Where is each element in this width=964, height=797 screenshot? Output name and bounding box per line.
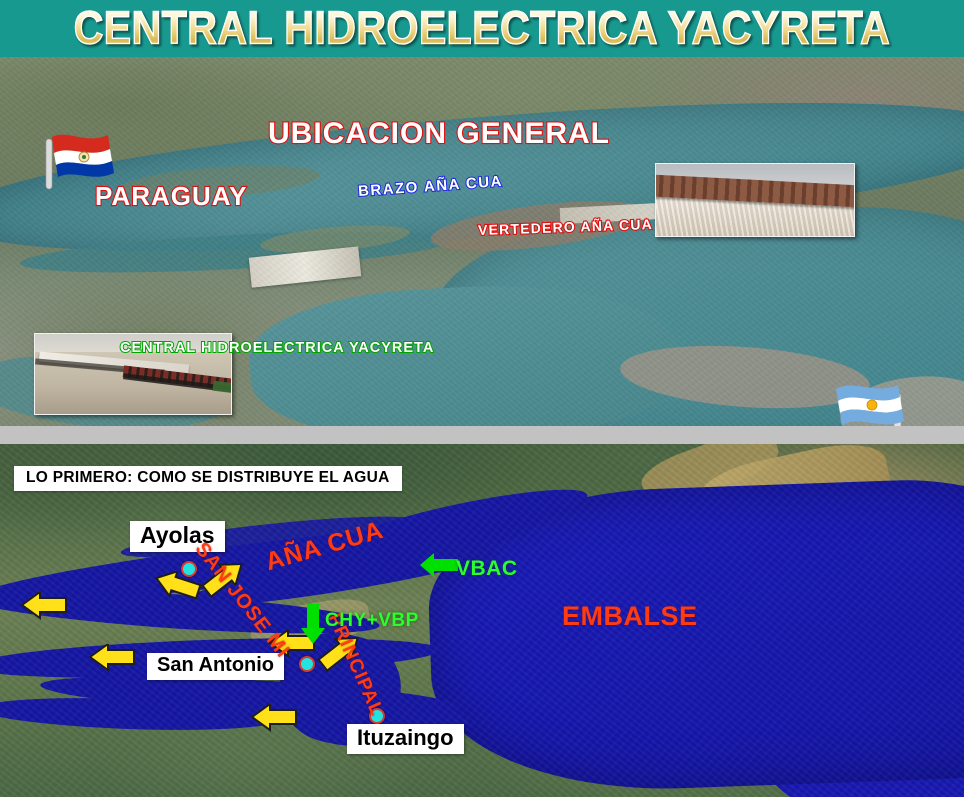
place-label-ituzaingo: Ituzaingo	[347, 724, 464, 754]
label-vbac: VBAC	[456, 557, 518, 581]
page-title: CENTRAL HIDROELECTRICA YACYRETA	[74, 2, 891, 55]
label-embalse: EMBALSE	[562, 601, 698, 632]
flow-arrow-yellow	[88, 644, 138, 678]
lower-satellite-map: LO PRIMERO: COMO SE DISTRIBUYE EL AGUA	[0, 444, 964, 797]
upper-satellite-map: UBICACION GENERAL PARAGUAY BRAZO AÑA CUA…	[0, 57, 964, 426]
flow-arrow-yellow	[20, 592, 70, 626]
marker-san-antonio	[299, 656, 315, 672]
chy-vbp-arrow-icon	[300, 602, 326, 646]
label-central-hidroelectrica: CENTRAL HIDROELECTRICA YACYRETA	[120, 340, 434, 356]
section-banner: LO PRIMERO: COMO SE DISTRIBUYE EL AGUA	[14, 466, 402, 491]
flow-arrow-yellow	[250, 704, 300, 738]
ana-cua-spillway-photo	[655, 163, 855, 237]
panel-divider	[0, 426, 964, 444]
argentina-flag-icon	[836, 379, 916, 426]
label-chy-vbp: CHY+VBP	[325, 610, 419, 632]
upper-map-heading: UBICACION GENERAL	[268, 117, 610, 151]
lower-terrain-texture-overlay	[0, 444, 964, 797]
vbac-arrow-icon	[418, 552, 460, 578]
marker-ayolas	[181, 561, 197, 577]
slide-root: CENTRAL HIDROELECTRICA YACYRETA	[0, 0, 964, 797]
title-bar: CENTRAL HIDROELECTRICA YACYRETA	[0, 0, 964, 57]
label-paraguay: PARAGUAY	[95, 181, 247, 212]
place-label-san-antonio: San Antonio	[147, 653, 284, 680]
